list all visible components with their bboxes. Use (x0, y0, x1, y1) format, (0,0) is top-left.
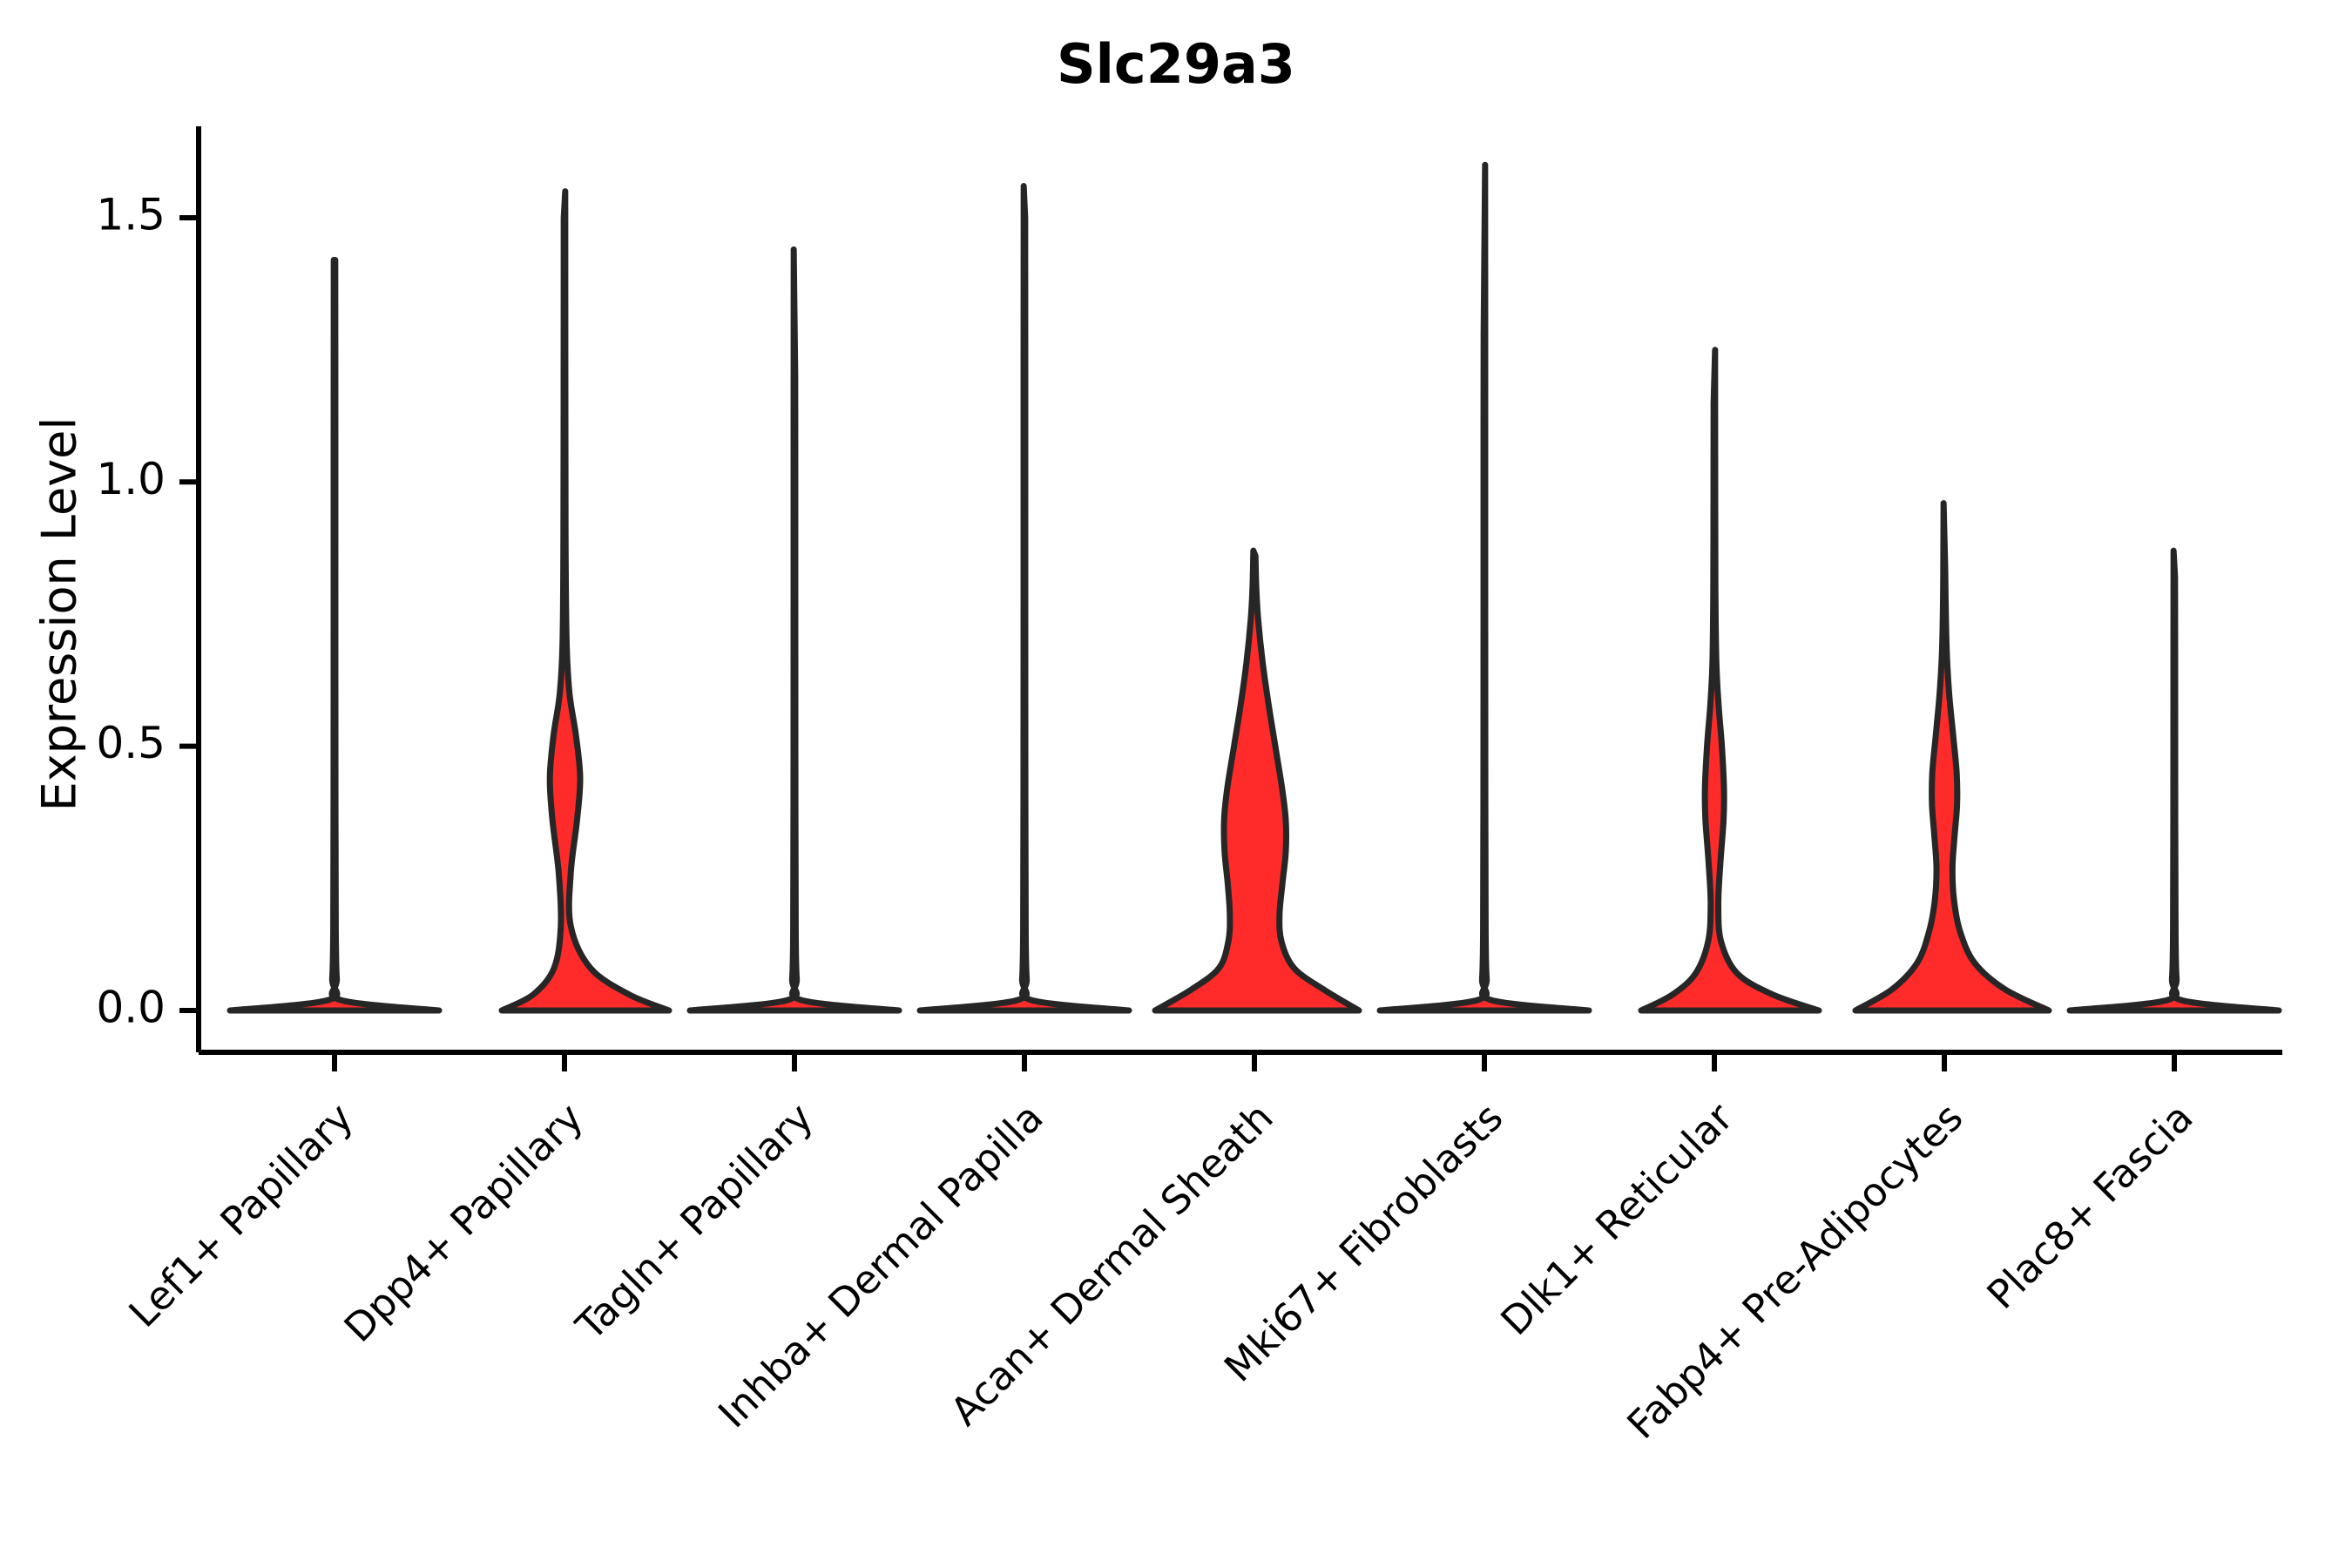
y-tick-label: 0.0 (96, 983, 166, 1033)
violin-plot-figure: Slc29a3 Expression Level 0.00.51.01.5 Le… (0, 0, 2352, 1568)
violin-8 (2070, 551, 2279, 1010)
violin-2 (690, 249, 899, 1010)
page-title: Slc29a3 (1057, 32, 1295, 96)
y-tick-label: 1.5 (96, 189, 166, 240)
x-tick-label-group: Lef1+ PapillaryDpp4+ PapillaryTagln+ Pap… (120, 1094, 2202, 1448)
violin-3 (920, 186, 1129, 1010)
x-tick-label-0: Lef1+ Papillary (120, 1094, 362, 1336)
y-tick-label: 1.0 (96, 454, 166, 504)
violin-5 (1380, 165, 1589, 1010)
x-tick-group (335, 1052, 2174, 1071)
x-tick-label-2: Tagln+ Papillary (566, 1094, 821, 1349)
y-axis-label: Expression Level (32, 417, 87, 812)
violin-6 (1641, 350, 1819, 1010)
violin-group (230, 165, 2279, 1010)
violin-1 (502, 192, 669, 1010)
violin-0 (230, 260, 439, 1010)
x-tick-label-8: Plac8+ Fascia (1978, 1094, 2202, 1318)
violin-7 (1855, 504, 2049, 1010)
violin-4 (1155, 551, 1359, 1010)
x-tick-label-6: Dlk1+ Reticular (1492, 1094, 1742, 1344)
plot-canvas: Slc29a3 Expression Level 0.00.51.01.5 Le… (0, 0, 2352, 1568)
y-tick-group: 0.00.51.01.5 (96, 189, 199, 1032)
y-tick-label: 0.5 (96, 718, 166, 768)
x-tick-label-1: Dpp4+ Papillary (335, 1094, 592, 1351)
